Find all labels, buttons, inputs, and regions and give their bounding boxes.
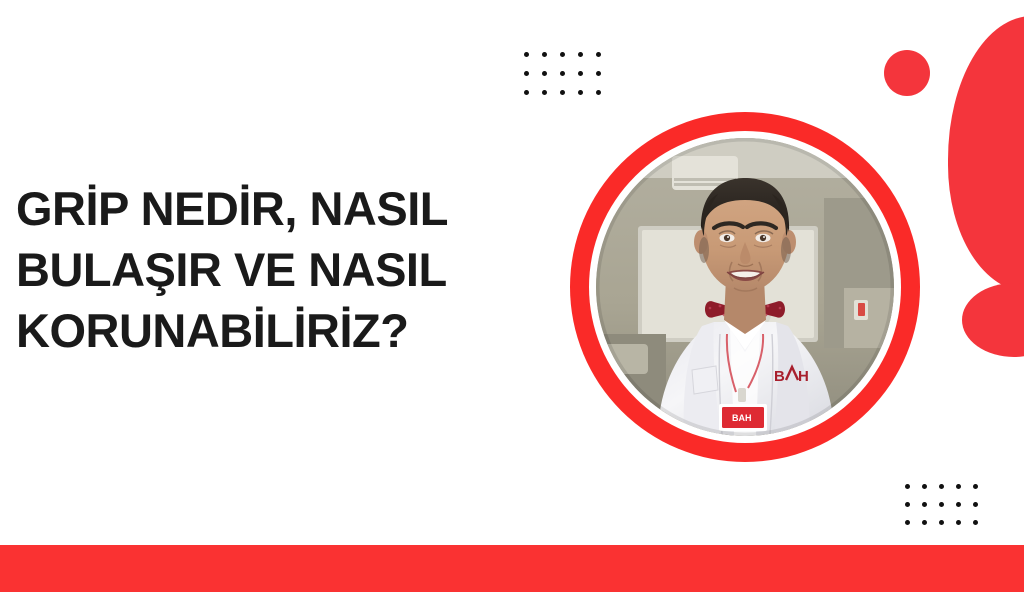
dot: [542, 52, 547, 57]
dot: [905, 502, 910, 507]
portrait-photo: B H BAH: [596, 138, 894, 436]
dot: [596, 52, 601, 57]
dot: [922, 484, 927, 489]
dot: [905, 520, 910, 525]
dot: [922, 520, 927, 525]
dot: [596, 90, 601, 95]
dot: [578, 52, 583, 57]
dot-grid-top: [524, 52, 614, 109]
portrait-medallion-ring: B H BAH: [570, 112, 920, 462]
dot: [524, 52, 529, 57]
bottom-accent-band: [0, 545, 1024, 592]
dot: [524, 71, 529, 76]
dot: [524, 90, 529, 95]
dot: [956, 520, 961, 525]
dot: [939, 520, 944, 525]
dot: [922, 502, 927, 507]
dot: [939, 484, 944, 489]
svg-text:B: B: [774, 368, 785, 385]
dot: [560, 90, 565, 95]
page-title-line-2: BULAŞIR VE NASIL: [16, 239, 556, 300]
dot: [542, 71, 547, 76]
dot-grid-bottom: [905, 484, 990, 538]
page-title: GRİP NEDİR, NASIL BULAŞIR VE NASIL KORUN…: [16, 178, 556, 361]
name-badge: BAH: [719, 404, 767, 431]
page-title-line-1: GRİP NEDİR, NASIL: [16, 178, 556, 239]
dot: [956, 484, 961, 489]
dot: [560, 71, 565, 76]
decorative-circle-icon: [884, 50, 930, 96]
dot: [973, 502, 978, 507]
dot: [956, 502, 961, 507]
dot: [560, 52, 565, 57]
svg-text:H: H: [798, 368, 809, 385]
dot: [578, 71, 583, 76]
dot: [973, 520, 978, 525]
dot: [596, 71, 601, 76]
dot: [542, 90, 547, 95]
poster-canvas: GRİP NEDİR, NASIL BULAŞIR VE NASIL KORUN…: [0, 0, 1024, 607]
dot: [578, 90, 583, 95]
dot: [939, 502, 944, 507]
exclamation-mark-dot-icon: [962, 283, 1024, 357]
dot: [905, 484, 910, 489]
dot: [973, 484, 978, 489]
svg-text:BAH: BAH: [732, 413, 752, 423]
exclamation-mark-bulb-icon: [948, 16, 1024, 292]
page-title-line-3: KORUNABİLİRİZ?: [16, 300, 556, 361]
